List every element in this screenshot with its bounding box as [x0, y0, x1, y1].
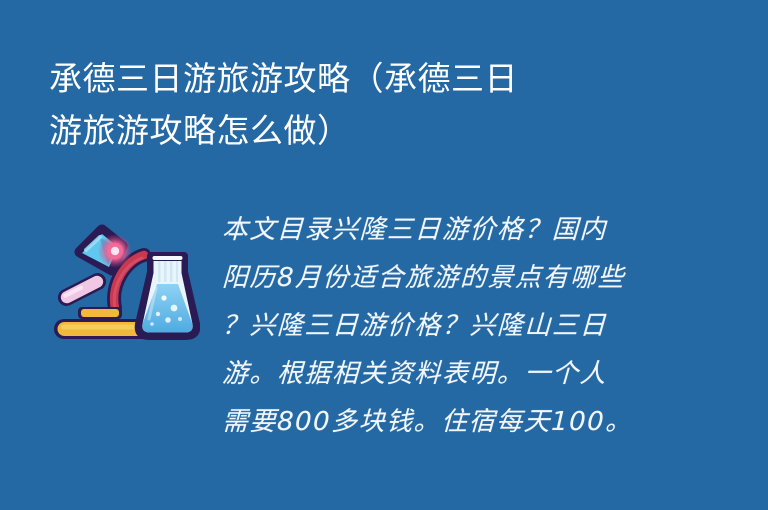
article-body: 本文目录兴隆三日游价格？国内 阳历8月份适合旅游的景点有哪些 ？兴隆三日游价格？…	[222, 206, 647, 446]
body-line-4: 游。根据相关资料表明。一个人	[221, 350, 648, 398]
body-line-5: 需要800多块钱。住宿每天100。	[221, 398, 648, 446]
title-line-1: 承德三日游旅游攻略（承德三日	[49, 53, 669, 105]
erlenmeyer-flask-icon	[139, 254, 197, 336]
microscope-slide	[55, 270, 109, 309]
body-line-3: ？兴隆三日游价格？兴隆山三日	[221, 302, 648, 350]
title-line-2: 游旅游攻略怎么做）	[49, 105, 669, 157]
page-title: 承德三日游旅游攻略（承德三日 游旅游攻略怎么做）	[49, 53, 669, 157]
body-line-2: 阳历8月份适合旅游的景点有哪些	[221, 254, 648, 302]
microscope-and-flask-illustration	[52, 224, 200, 342]
body-line-1: 本文目录兴隆三日游价格？国内	[221, 206, 648, 254]
article-card: 承德三日游旅游攻略（承德三日 游旅游攻略怎么做）	[0, 0, 768, 510]
